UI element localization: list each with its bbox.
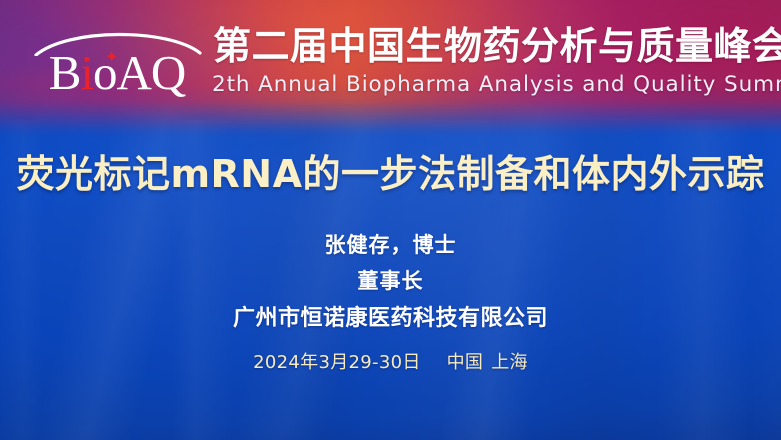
speaker-organization: 广州市恒诺康医药科技有限公司 (0, 302, 781, 336)
presentation-title: 荧光标记mRNA的一步法制备和体内外示踪 (0, 150, 781, 198)
speaker-block: 张健存，博士 董事长 广州市恒诺康医药科技有限公司 (0, 229, 781, 336)
speaker-role: 董事长 (0, 265, 781, 297)
conference-title-english: 2th Annual Biopharma Analysis and Qualit… (212, 72, 774, 98)
logo-letter-i: i (80, 45, 93, 100)
logo-letter-b: B (49, 45, 81, 100)
event-date: 2024年3月29-30日 (253, 352, 420, 373)
logo-star-icon: ✦ (105, 50, 118, 65)
event-country: 中国 (447, 352, 484, 373)
presentation-slide: BioAQ ✦ 第二届中国生物药分析与质量峰会 2th Annual Bioph… (0, 0, 781, 440)
event-date-location: 2024年3月29-30日中国上海 (0, 350, 781, 376)
speaker-name: 张健存，博士 (0, 229, 781, 261)
conference-title-chinese: 第二届中国生物药分析与质量峰会 (213, 25, 773, 67)
event-city: 上海 (491, 352, 528, 373)
bioaq-logo: BioAQ ✦ (28, 26, 206, 104)
